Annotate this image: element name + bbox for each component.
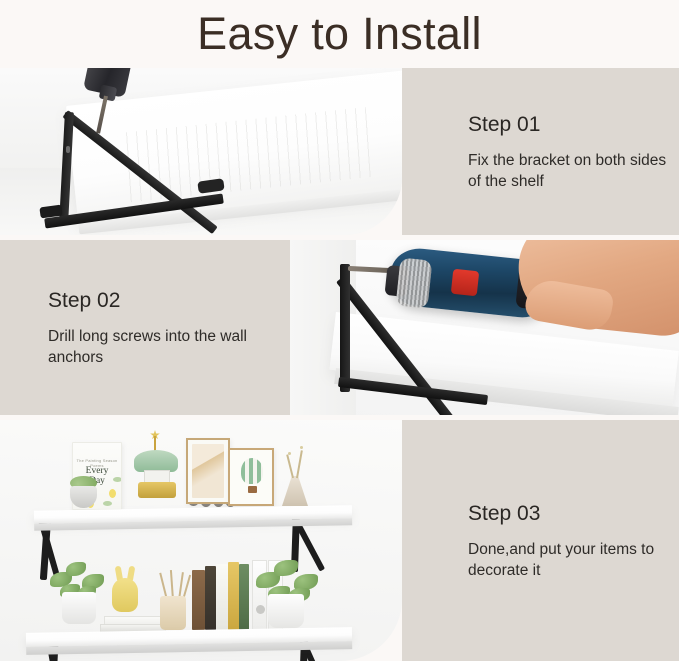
install-instructions-infographic: Easy to Install Step 01 Fix the bracket … xyxy=(0,0,679,661)
book-title-line-1: Every xyxy=(86,466,109,476)
leaf-illustration xyxy=(113,477,122,482)
step-3-description: Done,and put your items to decorate it xyxy=(468,539,678,581)
carousel-gold-base xyxy=(138,482,176,498)
step-2-text-panel: Step 02 Drill long screws into the wall … xyxy=(0,240,290,415)
book-spine-yellow xyxy=(228,562,239,630)
step-3-number: Step 03 xyxy=(468,501,679,527)
step-1-number: Step 01 xyxy=(468,112,679,138)
book-spine-white xyxy=(216,564,228,630)
plant-leaf xyxy=(66,562,86,576)
step-2-number: Step 02 xyxy=(48,288,290,314)
book-spine-dark xyxy=(205,566,216,630)
drill-chuck-icon xyxy=(99,84,118,101)
step-3-text-panel: Step 03 Done,and put your items to decor… xyxy=(402,420,679,661)
step-3-photo: The Painting Season Poems Every Day xyxy=(0,420,402,661)
hot-air-balloon-frame xyxy=(228,448,274,506)
step-1-text-panel: Step 01 Fix the bracket on both sides of… xyxy=(402,68,679,235)
left-plant-pot xyxy=(62,592,96,624)
twig-bud xyxy=(288,452,291,455)
page-title: Easy to Install xyxy=(197,10,482,58)
plant-leaf xyxy=(274,560,298,576)
lemon-illustration xyxy=(109,489,116,498)
yellow-bunny-figurine xyxy=(112,578,138,612)
binder-label-ring xyxy=(256,605,265,614)
balloon-basket xyxy=(248,486,257,493)
carousel-canopy xyxy=(134,450,178,472)
bracket-screw-hole xyxy=(66,146,70,153)
twig-bud xyxy=(300,446,303,449)
abstract-art-frame xyxy=(186,438,230,504)
step-2-photo xyxy=(290,240,679,415)
step-1-description: Fix the bracket on both sides of the she… xyxy=(468,150,678,192)
drill-trigger xyxy=(451,269,479,297)
wall-bracket-vertical-arm xyxy=(340,264,350,392)
hot-air-balloon-art xyxy=(241,458,263,484)
book-spine-green xyxy=(239,564,249,630)
drill-clutch-collar xyxy=(396,257,433,308)
step-1-photo xyxy=(0,68,402,235)
step-row-3: The Painting Season Poems Every Day xyxy=(0,420,679,661)
pencil-cup xyxy=(160,596,186,630)
step-row-1: Step 01 Fix the bracket on both sides of… xyxy=(0,68,679,235)
leaf-illustration xyxy=(103,501,112,506)
step-row-2: Step 02 Drill long screws into the wall … xyxy=(0,240,679,415)
abstract-artwork xyxy=(192,444,224,498)
step-2-description: Drill long screws into the wall anchors xyxy=(48,326,268,368)
right-plant-pot xyxy=(268,594,304,628)
book-spine-brown xyxy=(192,570,205,630)
title-bar: Easy to Install xyxy=(0,0,679,68)
